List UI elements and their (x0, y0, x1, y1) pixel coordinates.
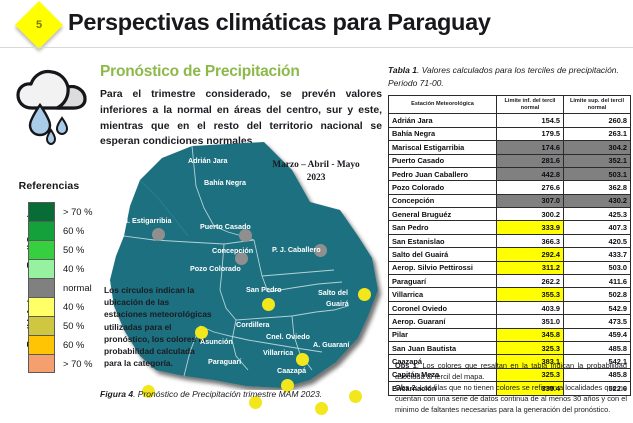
cell-upper-limit: 411.6 (564, 275, 631, 288)
cell-lower-limit: 403.9 (497, 301, 564, 314)
cell-station-name: Bahía Negra (389, 127, 497, 140)
column-header-station: Estación Meteorológica (389, 96, 497, 114)
table-row: Bahía Negra179.5263.1 (389, 127, 631, 140)
cell-lower-limit: 442.8 (497, 167, 564, 180)
map-station-label: Guairá (326, 299, 349, 308)
cell-lower-limit: 281.6 (497, 154, 564, 167)
cell-lower-limit: 355.3 (497, 288, 564, 301)
cell-lower-limit: 300.2 (497, 208, 564, 221)
cell-station-name: Pozo Colorado (389, 181, 497, 194)
map-date-label: Marzo – Abril - Mayo 2023 (256, 159, 376, 184)
table-row: Salto del Guairá292.4433.7 (389, 248, 631, 261)
cell-lower-limit: 333.9 (497, 221, 564, 234)
cell-upper-limit: 260.8 (564, 114, 631, 127)
legend-swatch (28, 278, 55, 297)
table-row: San Pedro333.9407.3 (389, 221, 631, 234)
map-station-label: Cordillera (236, 320, 270, 329)
map-station-label: Adrián Jara (188, 156, 228, 165)
tercile-table-section: Tabla 1. Valores calculados para los ter… (388, 64, 630, 396)
table-row: Pedro Juan Caballero442.8503.1 (389, 167, 631, 180)
table-row: Puerto Casado281.6352.1 (389, 154, 631, 167)
cell-station-name: San Juan Bautista (389, 341, 497, 354)
map-station-dot[interactable] (358, 288, 371, 301)
page-title: Perspectivas climáticas para Paraguay (68, 9, 491, 36)
legend-swatch (28, 354, 55, 373)
cell-upper-limit: 420.5 (564, 234, 631, 247)
map-date-line1: Marzo – Abril - Mayo (272, 160, 359, 170)
cell-upper-limit: 304.2 (564, 141, 631, 154)
cell-station-name: Adrián Jara (389, 114, 497, 127)
rain-cloud-icon (10, 62, 98, 148)
cell-upper-limit: 433.7 (564, 248, 631, 261)
infographic-page: 5 Perspectivas climáticas para Paraguay … (0, 0, 633, 423)
legend-title: Referencias (0, 180, 98, 192)
observation-1-label: Obs 1 (395, 361, 417, 370)
legend-swatch (28, 335, 55, 354)
cell-lower-limit: 366.3 (497, 234, 564, 247)
legend-swatch (28, 259, 55, 278)
legend-swatch (28, 297, 55, 316)
map-station-label: Puerto Casado (200, 222, 251, 231)
table-row: Concepción307.0430.2 (389, 194, 631, 207)
cell-upper-limit: 485.8 (564, 341, 631, 354)
legend-row: 60 % (28, 335, 92, 354)
figure-caption-text: . Pronóstico de Precipitación trimestre … (133, 389, 322, 399)
legend-label: 40 % (63, 263, 84, 274)
table-caption-text: . Valores calculados para los terciles d… (388, 65, 619, 88)
table-row: Aerop. Silvio Pettirossi311.2503.0 (389, 261, 631, 274)
map-station-dot[interactable] (315, 402, 328, 415)
legend-row: > 70 % (28, 354, 92, 373)
map-station-label: Bahía Negra (204, 178, 246, 187)
map-date-line2: 2023 (307, 173, 326, 183)
map-station-label: San Pedro (246, 285, 282, 294)
legend-swatch (28, 240, 55, 259)
map-station-dot[interactable] (152, 228, 165, 241)
map-station-label: Caazapá (277, 366, 306, 375)
table-row: Adrián Jara154.5260.8 (389, 114, 631, 127)
figure-caption-prefix: Figura 4 (100, 389, 133, 399)
cell-station-name: San Estanislao (389, 234, 497, 247)
map-station-label: Asunción (200, 337, 233, 346)
observation-2-text: : Las filas que no tienen colores se ref… (395, 383, 627, 414)
legend-swatch (28, 221, 55, 240)
cell-upper-limit: 263.1 (564, 127, 631, 140)
tercile-table: Estación Meteorológica Limite inf. del t… (388, 95, 631, 395)
cell-lower-limit: 311.2 (497, 261, 564, 274)
cell-station-name: Aerop. Guaraní (389, 315, 497, 328)
cell-lower-limit: 292.4 (497, 248, 564, 261)
cell-station-name: Pilar (389, 328, 497, 341)
cell-station-name: Mariscal Estigarribia (389, 141, 497, 154)
cell-station-name: Coronel Oviedo (389, 301, 497, 314)
legend-swatch (28, 316, 55, 335)
legend-row: 40 % (28, 297, 92, 316)
map-station-label: P. J. Caballero (272, 245, 321, 254)
cell-upper-limit: 430.2 (564, 194, 631, 207)
cell-upper-limit: 473.5 (564, 315, 631, 328)
cell-upper-limit: 362.8 (564, 181, 631, 194)
table-row: Pilar345.8459.4 (389, 328, 631, 341)
cell-lower-limit: 154.5 (497, 114, 564, 127)
cell-lower-limit: 351.0 (497, 315, 564, 328)
cell-lower-limit: 345.8 (497, 328, 564, 341)
cell-station-name: Concepción (389, 194, 497, 207)
cell-station-name: Aerop. Silvio Pettirossi (389, 261, 497, 274)
table-row: Mariscal Estigarribia174.6304.2 (389, 141, 631, 154)
cell-station-name: Villarrica (389, 288, 497, 301)
map-station-label: Pilar (126, 399, 142, 408)
forecast-title: Pronóstico de Precipitación (100, 63, 382, 81)
observation-1: Obs 1: Los colores que resaltan en la ta… (395, 360, 627, 382)
legend-swatch (28, 202, 55, 221)
table-row: San Juan Bautista325.3485.8 (389, 341, 631, 354)
table-row: Aerop. Guaraní351.0473.5 (389, 315, 631, 328)
legend-label: > 70 % (63, 206, 92, 217)
observation-2: Obs 2: Las filas que no tienen colores s… (395, 382, 627, 415)
cell-lower-limit: 179.5 (497, 127, 564, 140)
observations: Obs 1: Los colores que resaltan en la ta… (395, 360, 627, 416)
column-header-upper-limit: Limite sup. del tercil normal (564, 96, 631, 114)
map-station-label: Mcal. Estigarribia (112, 216, 172, 225)
map-station-label: S.J.Bautista (203, 402, 244, 411)
legend: Referencias Tercil Superior Tercil Infer… (0, 180, 98, 372)
table-row: Coronel Oviedo403.9542.9 (389, 301, 631, 314)
map-station-label: A. Guaraní (313, 340, 349, 349)
cell-lower-limit: 307.0 (497, 194, 564, 207)
forecast-section: Pronóstico de Precipitación Para el trim… (100, 63, 382, 150)
cell-upper-limit: 542.9 (564, 301, 631, 314)
legend-swatch-list: > 70 %60 %50 %40 %normal40 %50 %60 %> 70… (28, 202, 92, 373)
map-station-label: Capitán (339, 366, 365, 375)
table-row: San Estanislao366.3420.5 (389, 234, 631, 247)
legend-row: > 70 % (28, 202, 92, 221)
figure-caption: Figura 4. Pronóstico de Precipitación tr… (100, 389, 390, 399)
cell-station-name: Pedro Juan Caballero (389, 167, 497, 180)
legend-label: 60 % (63, 339, 84, 350)
map-station-label: Cnel. Oviedo (266, 332, 310, 341)
header-divider (0, 47, 633, 48)
cell-upper-limit: 503.0 (564, 261, 631, 274)
page-number-label: 5 (22, 8, 56, 42)
cell-station-name: Paraguarí (389, 275, 497, 288)
map-station-label: Paraguarí (208, 357, 241, 366)
legend-label: 60 % (63, 225, 84, 236)
legend-label: 50 % (63, 320, 84, 331)
legend-label: 50 % (63, 244, 84, 255)
legend-row: normal (28, 278, 92, 297)
legend-row: 60 % (28, 221, 92, 240)
cell-station-name: General Bruguéz (389, 208, 497, 221)
map-station-label: Concepción (212, 246, 253, 255)
cell-station-name: Salto del Guairá (389, 248, 497, 261)
legend-row: 50 % (28, 316, 92, 335)
table-row: Paraguarí262.2411.6 (389, 275, 631, 288)
map-station-dot[interactable] (296, 353, 309, 366)
cell-upper-limit: 459.4 (564, 328, 631, 341)
map-station-label: Villarrica (263, 348, 293, 357)
observation-1-text: : Los colores que resaltan en la tabla i… (395, 361, 627, 381)
legend-label: normal (63, 282, 92, 293)
cell-lower-limit: 262.2 (497, 275, 564, 288)
map-station-label: Pozo Colorado (190, 264, 241, 273)
table-caption-prefix: Tabla 1 (388, 65, 417, 75)
map-station-label: Salto del (318, 288, 348, 297)
observation-2-label: Obs 2 (395, 383, 416, 392)
cell-upper-limit: 352.1 (564, 154, 631, 167)
map-station-dot[interactable] (262, 298, 275, 311)
cell-station-name: Puerto Casado (389, 154, 497, 167)
cell-upper-limit: 407.3 (564, 221, 631, 234)
page-header: 5 Perspectivas climáticas para Paraguay (0, 0, 633, 48)
table-row: Pozo Colorado276.6362.8 (389, 181, 631, 194)
map-station-label: Meza (349, 379, 367, 388)
legend-label: 40 % (63, 301, 84, 312)
table-header-row: Estación Meteorológica Limite inf. del t… (389, 96, 631, 114)
cell-lower-limit: 276.6 (497, 181, 564, 194)
table-caption: Tabla 1. Valores calculados para los ter… (388, 64, 630, 90)
cell-upper-limit: 425.3 (564, 208, 631, 221)
table-row: General Bruguéz300.2425.3 (389, 208, 631, 221)
legend-row: 50 % (28, 240, 92, 259)
table-row: Villarrica355.3502.8 (389, 288, 631, 301)
legend-label: > 70 % (63, 358, 92, 369)
cell-station-name: San Pedro (389, 221, 497, 234)
column-header-lower-limit: Limite inf. del tercil normal (497, 96, 564, 114)
cell-lower-limit: 174.6 (497, 141, 564, 154)
legend-row: 40 % (28, 259, 92, 278)
cell-upper-limit: 503.1 (564, 167, 631, 180)
cell-lower-limit: 325.3 (497, 341, 564, 354)
cell-upper-limit: 502.8 (564, 288, 631, 301)
precipitation-map: Marzo – Abril - Mayo 2023 Los círculos i… (96, 140, 386, 390)
